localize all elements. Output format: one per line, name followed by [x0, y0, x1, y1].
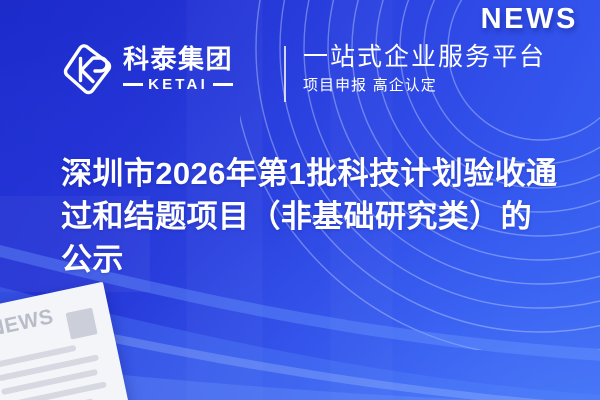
- news-tag: NEWS: [481, 5, 578, 34]
- news-banner: 科泰集团 KETAI 一站式企业服务平台 项目申报 高企认定 NEWS 深圳市2…: [0, 0, 600, 400]
- paper-photo-placeholder-icon: [66, 308, 98, 340]
- logo-name-en: KETAI: [148, 77, 208, 92]
- slogan-sub: 项目申报 高企认定: [303, 76, 583, 96]
- ketai-kt-diamond-logo-icon: [62, 42, 114, 96]
- newspaper-title: NEWS: [0, 306, 56, 340]
- company-logo[interactable]: 科泰集团 KETAI: [62, 42, 233, 96]
- slogan-block: 一站式企业服务平台 项目申报 高企认定: [303, 42, 583, 95]
- logo-rule-left-icon: [123, 83, 143, 86]
- banner-header: 科泰集团 KETAI 一站式企业服务平台 项目申报 高企认定 NEWS: [0, 0, 600, 128]
- logo-name-en-row: KETAI: [123, 77, 233, 92]
- page-title: 深圳市2026年第1批科技计划验收通过和结题项目（非基础研究类）的公示: [61, 152, 561, 281]
- slogan-main: 一站式企业服务平台: [303, 42, 583, 72]
- vertical-divider-icon: [284, 46, 286, 102]
- logo-rule-right-icon: [213, 83, 233, 86]
- logo-wordmark: 科泰集团 KETAI: [123, 46, 233, 92]
- logo-name-cn: 科泰集团: [123, 46, 233, 73]
